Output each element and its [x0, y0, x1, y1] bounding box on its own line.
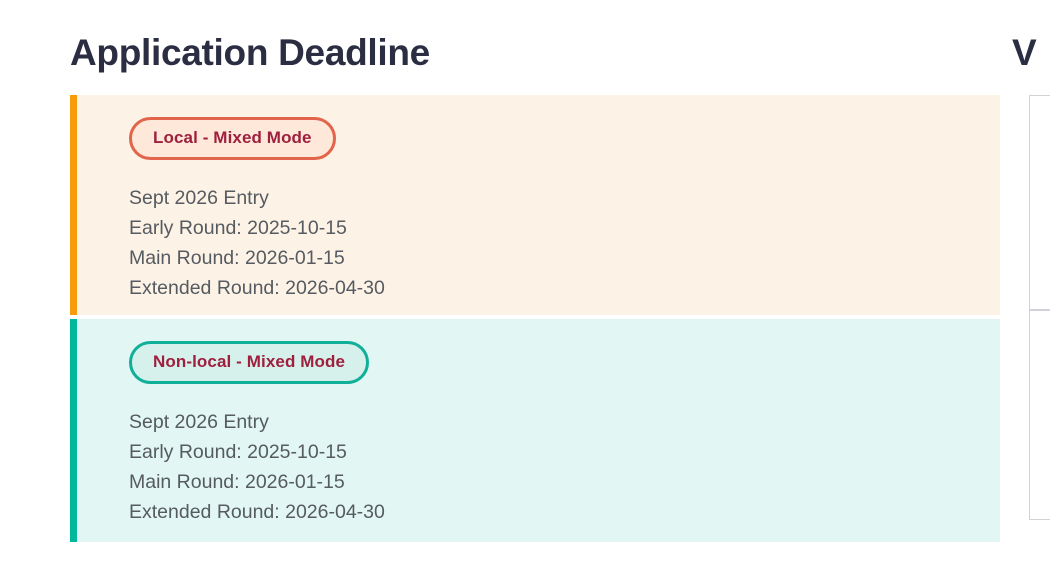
- adjacent-card-row: [1030, 96, 1050, 311]
- detail-line-extended-round: Extended Round: 2026-04-30: [129, 497, 1000, 527]
- detail-line-main-round: Main Round: 2026-01-15: [129, 243, 1000, 273]
- deadline-details-local: Sept 2026 Entry Early Round: 2025-10-15 …: [129, 183, 1000, 303]
- adjacent-section-title: V: [1012, 33, 1036, 74]
- status-badge-nonlocal-mixed-mode[interactable]: Non-local - Mixed Mode: [129, 341, 369, 384]
- detail-line-entry: Sept 2026 Entry: [129, 183, 1000, 213]
- detail-line-early-round: Early Round: 2025-10-15: [129, 213, 1000, 243]
- deadline-panel-nonlocal: Non-local - Mixed Mode Sept 2026 Entry E…: [70, 319, 1000, 542]
- deadline-details-nonlocal: Sept 2026 Entry Early Round: 2025-10-15 …: [129, 407, 1000, 527]
- status-badge-local-mixed-mode[interactable]: Local - Mixed Mode: [129, 117, 336, 160]
- detail-line-early-round: Early Round: 2025-10-15: [129, 437, 1000, 467]
- page-root: Application Deadline Local - Mixed Mode …: [0, 0, 1050, 582]
- application-deadline-section: Application Deadline Local - Mixed Mode …: [0, 0, 1000, 582]
- page-title: Application Deadline: [70, 33, 430, 74]
- detail-line-entry: Sept 2026 Entry: [129, 407, 1000, 437]
- adjacent-section-partial: V: [1000, 0, 1050, 582]
- detail-line-main-round: Main Round: 2026-01-15: [129, 467, 1000, 497]
- deadline-panel-local: Local - Mixed Mode Sept 2026 Entry Early…: [70, 95, 1000, 315]
- detail-line-extended-round: Extended Round: 2026-04-30: [129, 273, 1000, 303]
- deadline-panel-list: Local - Mixed Mode Sept 2026 Entry Early…: [70, 95, 1000, 542]
- adjacent-card-row: [1030, 311, 1050, 519]
- adjacent-card: [1029, 95, 1050, 520]
